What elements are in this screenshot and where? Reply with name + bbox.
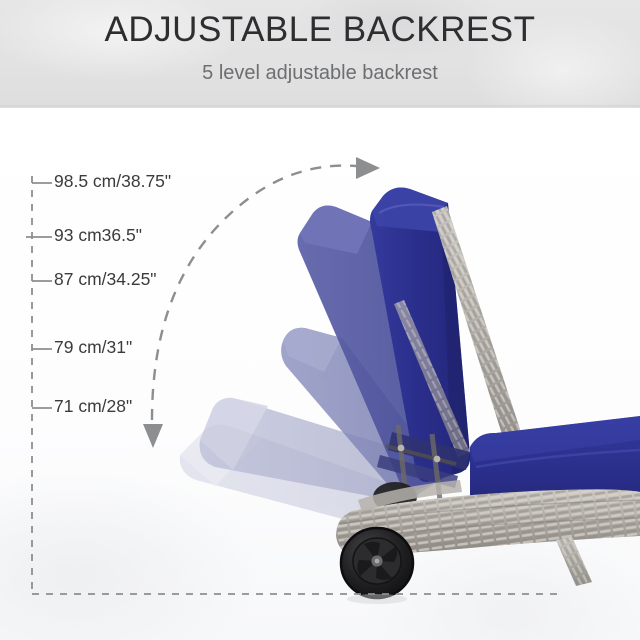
page-subtitle: 5 level adjustable backrest (0, 62, 640, 85)
header-band: ADJUSTABLE BACKREST 5 level adjustable b… (0, 0, 640, 108)
page-title: ADJUSTABLE BACKREST (0, 12, 640, 49)
measurement-label-4: 79 cm/31" (54, 339, 132, 357)
measurement-label-2: 93 cm36.5" (54, 227, 142, 245)
measurement-label-1: 98.5 cm/38.75" (54, 173, 171, 191)
measurement-label-3: 87 cm/34.25" (54, 271, 157, 289)
infographic-canvas: ADJUSTABLE BACKREST 5 level adjustable b… (0, 0, 640, 640)
measurement-label-5: 71 cm/28" (54, 398, 132, 416)
